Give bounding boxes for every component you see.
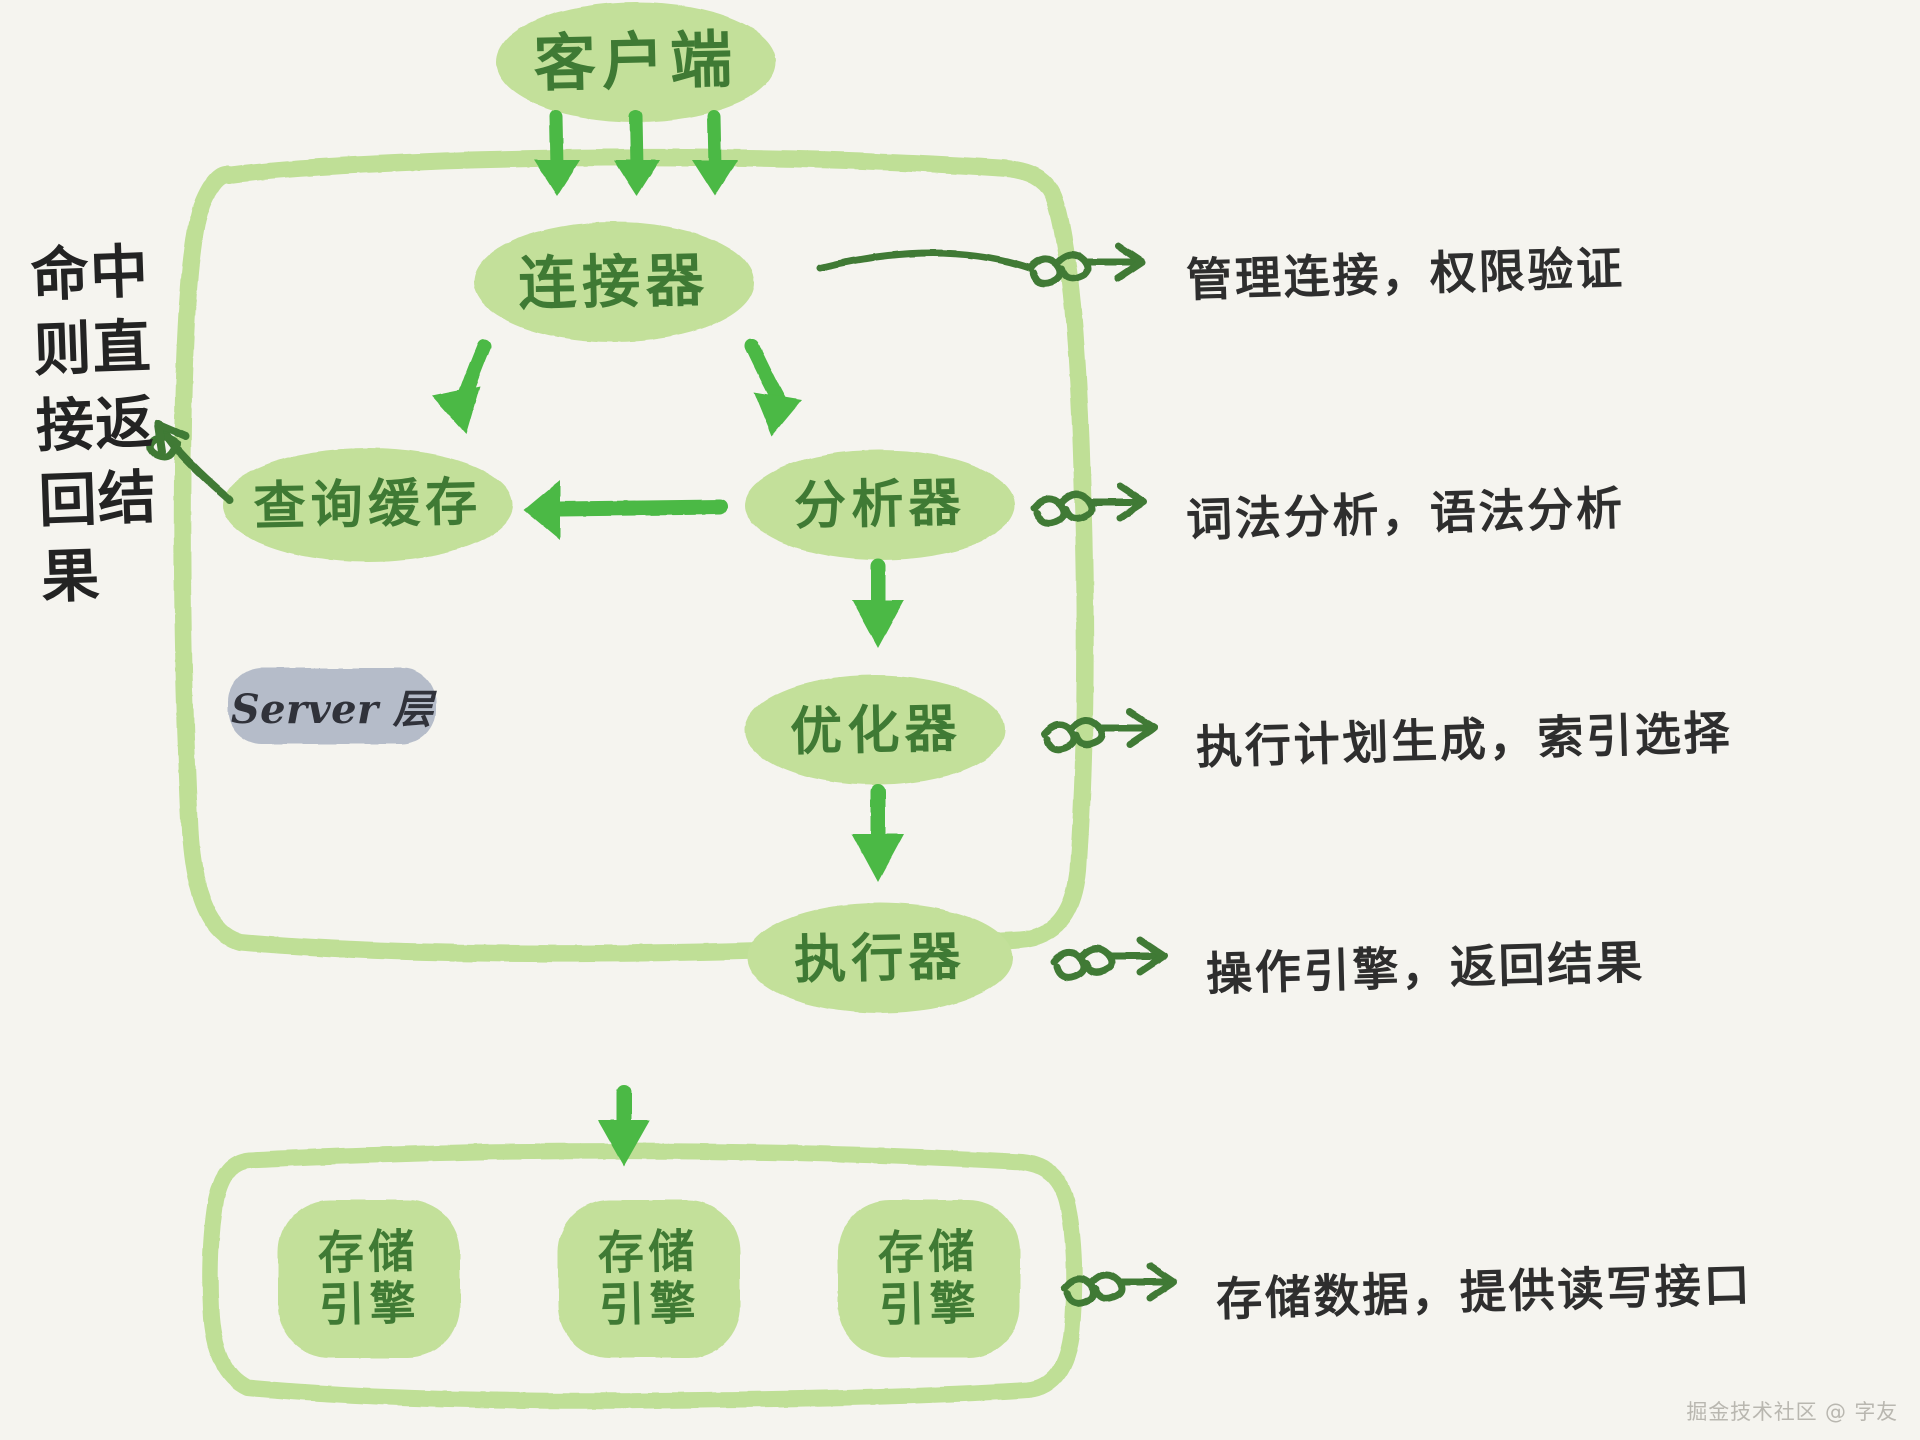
annotation-connector: 管理连接，权限验证 — [1185, 232, 1626, 310]
annotation-optimizer: 执行计划生成，索引选择 — [1195, 697, 1733, 778]
node-storage-engine-2[interactable]: 存储 引擎 — [556, 1202, 741, 1356]
down-arrow-icon — [614, 116, 660, 196]
squiggle-arrow-icon — [820, 246, 1142, 283]
squiggle-arrow-icon — [1064, 1266, 1174, 1303]
down-arrow-icon — [752, 346, 802, 436]
diagram-strokes — [0, 0, 1920, 1440]
node-query-cache[interactable]: 查询缓存 — [227, 457, 509, 553]
annotation-executor: 操作引擎，返回结果 — [1205, 926, 1646, 1004]
node-executor[interactable]: 执行器 — [751, 911, 1009, 1006]
down-arrow-icon — [598, 1092, 650, 1166]
down-arrow-icon — [852, 792, 904, 882]
down-arrow-icon — [432, 346, 484, 434]
storage-layer-container — [210, 1151, 1074, 1401]
down-arrow-icon — [852, 566, 904, 648]
node-parser[interactable]: 分析器 — [749, 457, 1011, 552]
arrow-strokes — [150, 116, 1174, 1303]
node-storage-engine-1[interactable]: 存储 引擎 — [276, 1202, 461, 1356]
server-layer-container — [182, 157, 1085, 953]
diagram-canvas: 客户端 连接器 查询缓存 分析器 优化器 执行器 存储 引擎 存储 引擎 存储 … — [0, 0, 1920, 1440]
annotation-parser: 词法分析，语法分析 — [1185, 472, 1626, 550]
squiggle-arrow-icon — [1054, 940, 1164, 977]
node-storage-engine-3[interactable]: 存储 引擎 — [836, 1202, 1021, 1356]
annotation-storage: 存储数据，提供读写接口 — [1215, 1249, 1753, 1330]
watermark: 掘金技术社区 @ 字友 — [1686, 1396, 1898, 1426]
down-arrow-icon — [692, 116, 738, 196]
server-layer-tag: Server 层 — [228, 672, 436, 740]
squiggle-arrow-icon — [1034, 486, 1144, 523]
node-optimizer[interactable]: 优化器 — [747, 683, 1005, 778]
down-arrow-icon — [534, 116, 580, 196]
curve-arrow-icon — [150, 424, 230, 500]
left-arrow-icon — [524, 480, 720, 540]
squiggle-arrow-icon — [1044, 712, 1154, 749]
node-client[interactable]: 客户端 — [495, 11, 777, 113]
cache-hit-note: 命中则直接返回结果 — [29, 234, 172, 615]
node-connector[interactable]: 连接器 — [473, 231, 755, 333]
node-shapes — [223, 2, 1020, 1358]
